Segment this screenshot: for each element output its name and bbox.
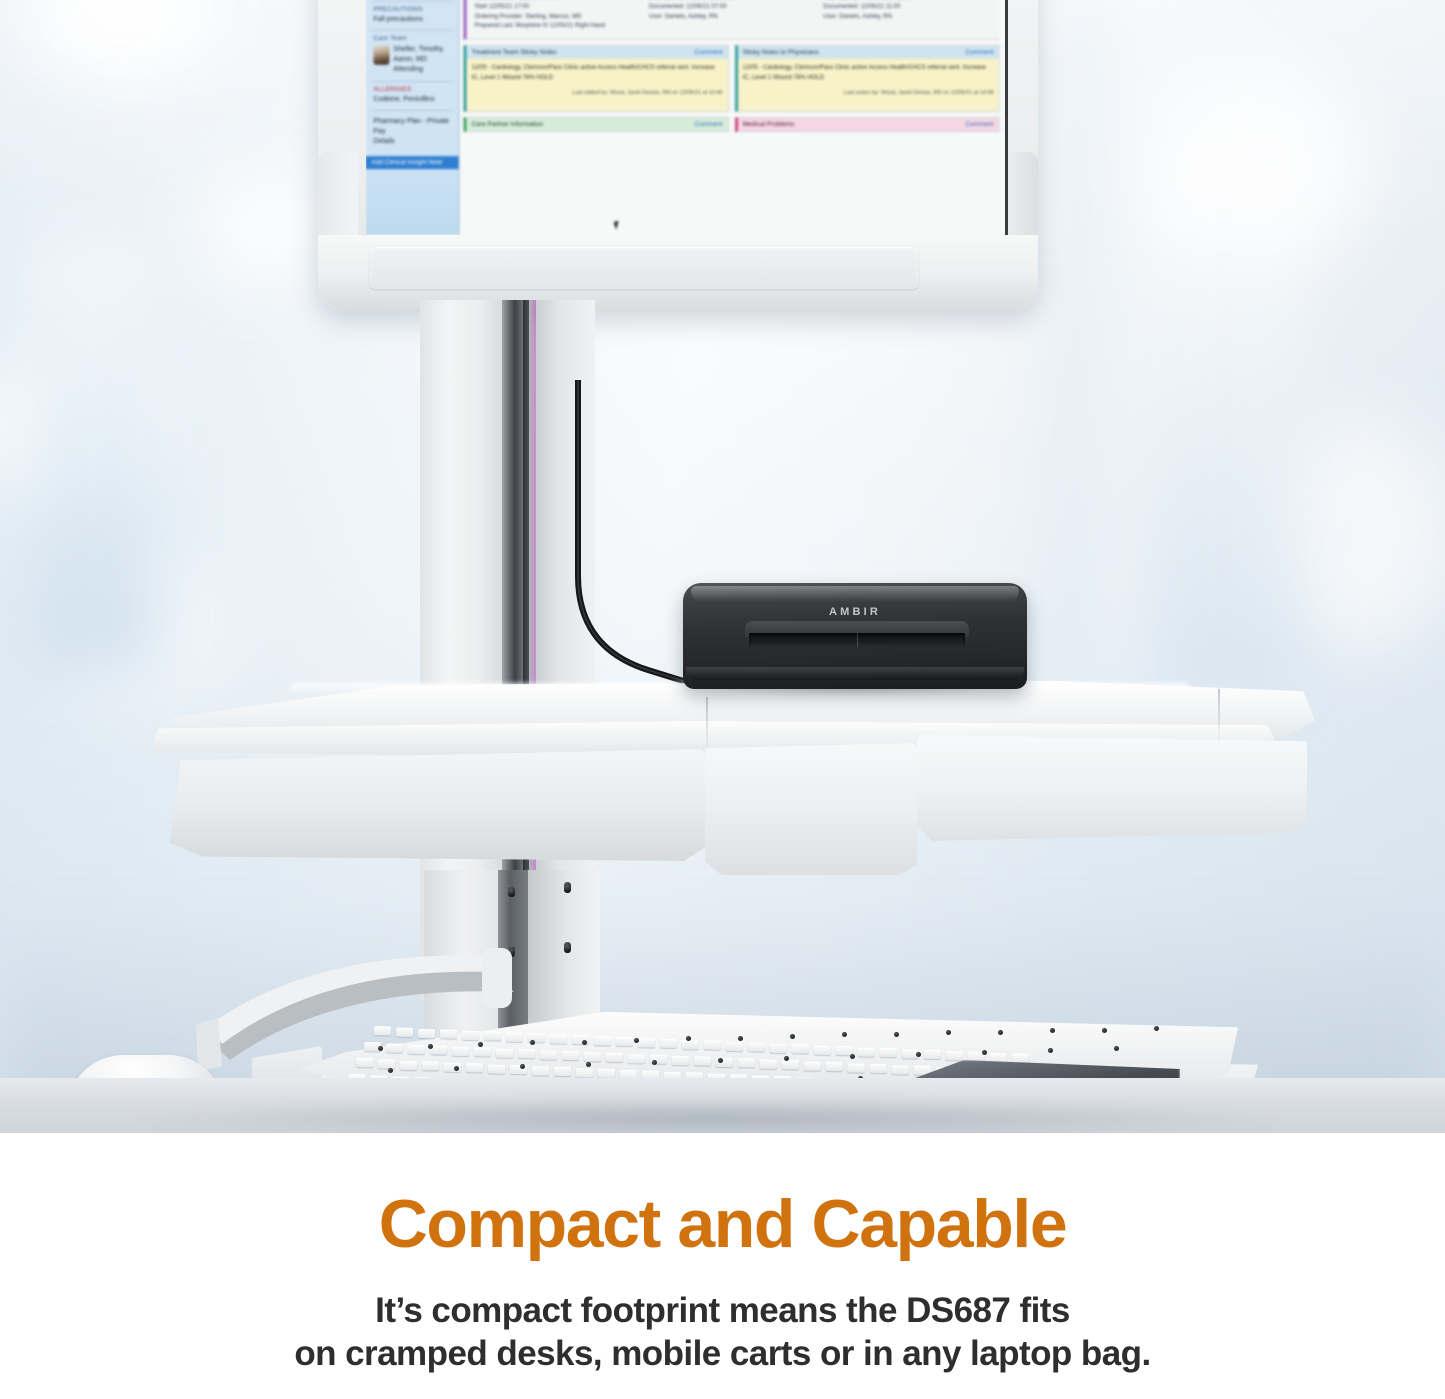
medical-problems-card: Medical Problems Comment xyxy=(735,117,1000,132)
mouse-cursor-icon xyxy=(614,221,621,230)
comment-link[interactable]: Comment xyxy=(965,49,993,56)
emr-application: Search PRECAUTIONS Fall precautions Care… xyxy=(366,0,1006,235)
storage-drawer-right[interactable] xyxy=(917,735,1307,841)
mount-hole xyxy=(508,886,515,897)
care-team-member: Sheller, Timothy Aaron, MD Attending xyxy=(373,45,450,75)
card-title: Medical Problems xyxy=(743,121,795,128)
desk-seam-left xyxy=(706,697,708,753)
emr-sidebar: Search PRECAUTIONS Fall precautions Care… xyxy=(366,0,460,235)
ambir-ds687-scanner[interactable]: AMBIR xyxy=(683,583,1027,689)
storage-drawer-left[interactable] xyxy=(170,749,705,861)
floor-shadow xyxy=(120,1098,1300,1133)
storage-drawer-center[interactable] xyxy=(705,743,917,875)
scanner-paper-feed-slot[interactable] xyxy=(749,633,965,647)
headline: Compact and Capable xyxy=(0,1190,1445,1258)
card-body: 12/05 - Cardiology, Clemson/Pass Clinic … xyxy=(738,59,999,111)
order-row: User: Daniels, Ashley, RN xyxy=(649,12,817,21)
card-header: Care Partner Information Comment xyxy=(467,118,728,131)
emr-sidebar-section-precautions: PRECAUTIONS Fall precautions xyxy=(371,1,452,30)
section-body: Fall precautions xyxy=(373,15,450,25)
order-row: User: Daniels, Ashley, RN xyxy=(823,12,991,21)
note-signature: Last edited by: Wood, Janet Denise, RN o… xyxy=(472,89,723,98)
note-text: 12/05 - Cardiology, Clemson/Pass Clinic … xyxy=(472,65,715,81)
order-column: Last Action Rate/Dose Verify Rate 125 mL… xyxy=(823,0,991,31)
section-heading: PRECAUTIONS xyxy=(373,6,450,13)
comment-link[interactable]: Comment xyxy=(694,121,722,128)
order-row: Start 12/05/21 17:00 xyxy=(475,3,643,12)
section-heading: Care Team xyxy=(373,35,450,42)
ambir-brand-logo: AMBIR xyxy=(683,606,1027,618)
care-partner-card: Care Partner Information Comment xyxy=(464,117,729,132)
product-photo: Search PRECAUTIONS Fall precautions Care… xyxy=(0,0,1445,1133)
scanner-top-highlight xyxy=(691,586,1019,602)
emr-sidebar-section-pharmacy: Pharmacy Plan - Private Pay Details xyxy=(371,110,452,153)
card-title: Sticky Notes to Physicians xyxy=(743,49,819,56)
person-name: Sheller, Timothy xyxy=(393,45,443,55)
cart-worksurface xyxy=(140,663,1315,893)
avatar xyxy=(373,45,389,65)
cart-monitor: Search PRECAUTIONS Fall precautions Care… xyxy=(318,0,1038,311)
mount-hole xyxy=(564,882,571,893)
card-header: Sticky Notes to Physicians Comment xyxy=(738,46,999,59)
order-column: Last Dose Req. Rate 125 mL/hr Dose 125 m… xyxy=(649,0,817,31)
comment-link[interactable]: Comment xyxy=(965,121,993,128)
subheadline-line-2: on cramped desks, mobile carts or in any… xyxy=(0,1332,1445,1375)
emr-main-pane: Order Information sodium chloride 0.9% (… xyxy=(460,0,1006,235)
comment-link[interactable]: Comment xyxy=(694,49,722,56)
desk-seam-right xyxy=(1218,689,1220,745)
order-row: Prepared Last: Morphine IV 12/05/21 Righ… xyxy=(475,22,643,31)
card-title: Care Partner Information xyxy=(472,121,544,128)
card-body: 12/05 - Cardiology, Clemson/Pass Clinic … xyxy=(467,59,728,111)
order-row: Ordering Provider: Sterling, Marcus, MD xyxy=(475,12,643,21)
note-text: 12/05 - Cardiology, Clemson/Pass Clinic … xyxy=(743,65,986,81)
sticky-note-card: Treatment Team Sticky Notes Comment 12/0… xyxy=(464,45,729,112)
section-body: Codeine, Penicillins xyxy=(373,95,450,105)
person-title: Aaron, MD xyxy=(393,55,443,65)
order-information-panel: Order Information sodium chloride 0.9% (… xyxy=(464,0,1000,40)
sticky-note-card: Sticky Notes to Physicians Comment 12/05… xyxy=(735,45,1000,112)
scanner-base-band xyxy=(686,667,1024,680)
order-row: Documented: 12/06/21 07:00 xyxy=(649,3,817,12)
card-header: Medical Problems Comment xyxy=(738,118,999,131)
section-body: Pharmacy Plan - Private Pay Details xyxy=(373,117,450,147)
card-header: Treatment Team Sticky Notes Comment xyxy=(467,46,728,59)
person-role: Attending xyxy=(393,65,443,75)
order-row: Documented: 12/06/21 11:00 xyxy=(823,3,991,12)
marketing-text-block: Compact and Capable It’s compact footpri… xyxy=(0,1133,1445,1399)
product-marketing-image: Search PRECAUTIONS Fall precautions Care… xyxy=(0,0,1445,1399)
order-column: Order Information sodium chloride 0.9% (… xyxy=(475,0,643,31)
subheadline-line-1: It’s compact footprint means the DS687 f… xyxy=(0,1289,1445,1332)
sticky-notes-row: Treatment Team Sticky Notes Comment 12/0… xyxy=(464,45,1000,112)
monitor-screen[interactable]: Search PRECAUTIONS Fall precautions Care… xyxy=(366,0,1008,235)
note-signature: Last action by: Wood, Janet Denise, RN o… xyxy=(743,89,994,98)
emr-sidebar-section-allergies: ALLERGIES Codeine, Penicillins xyxy=(371,81,452,110)
emr-sidebar-selected-item[interactable]: Add Clinical Insight Note xyxy=(366,156,459,169)
section-heading: ALLERGIES xyxy=(373,86,450,93)
card-title: Treatment Team Sticky Notes xyxy=(472,49,557,56)
bottom-cards-row: Care Partner Information Comment Medical… xyxy=(464,117,1000,132)
emr-sidebar-section-care-team: Care Team Sheller, Timothy Aaron, MD Att… xyxy=(371,30,452,81)
